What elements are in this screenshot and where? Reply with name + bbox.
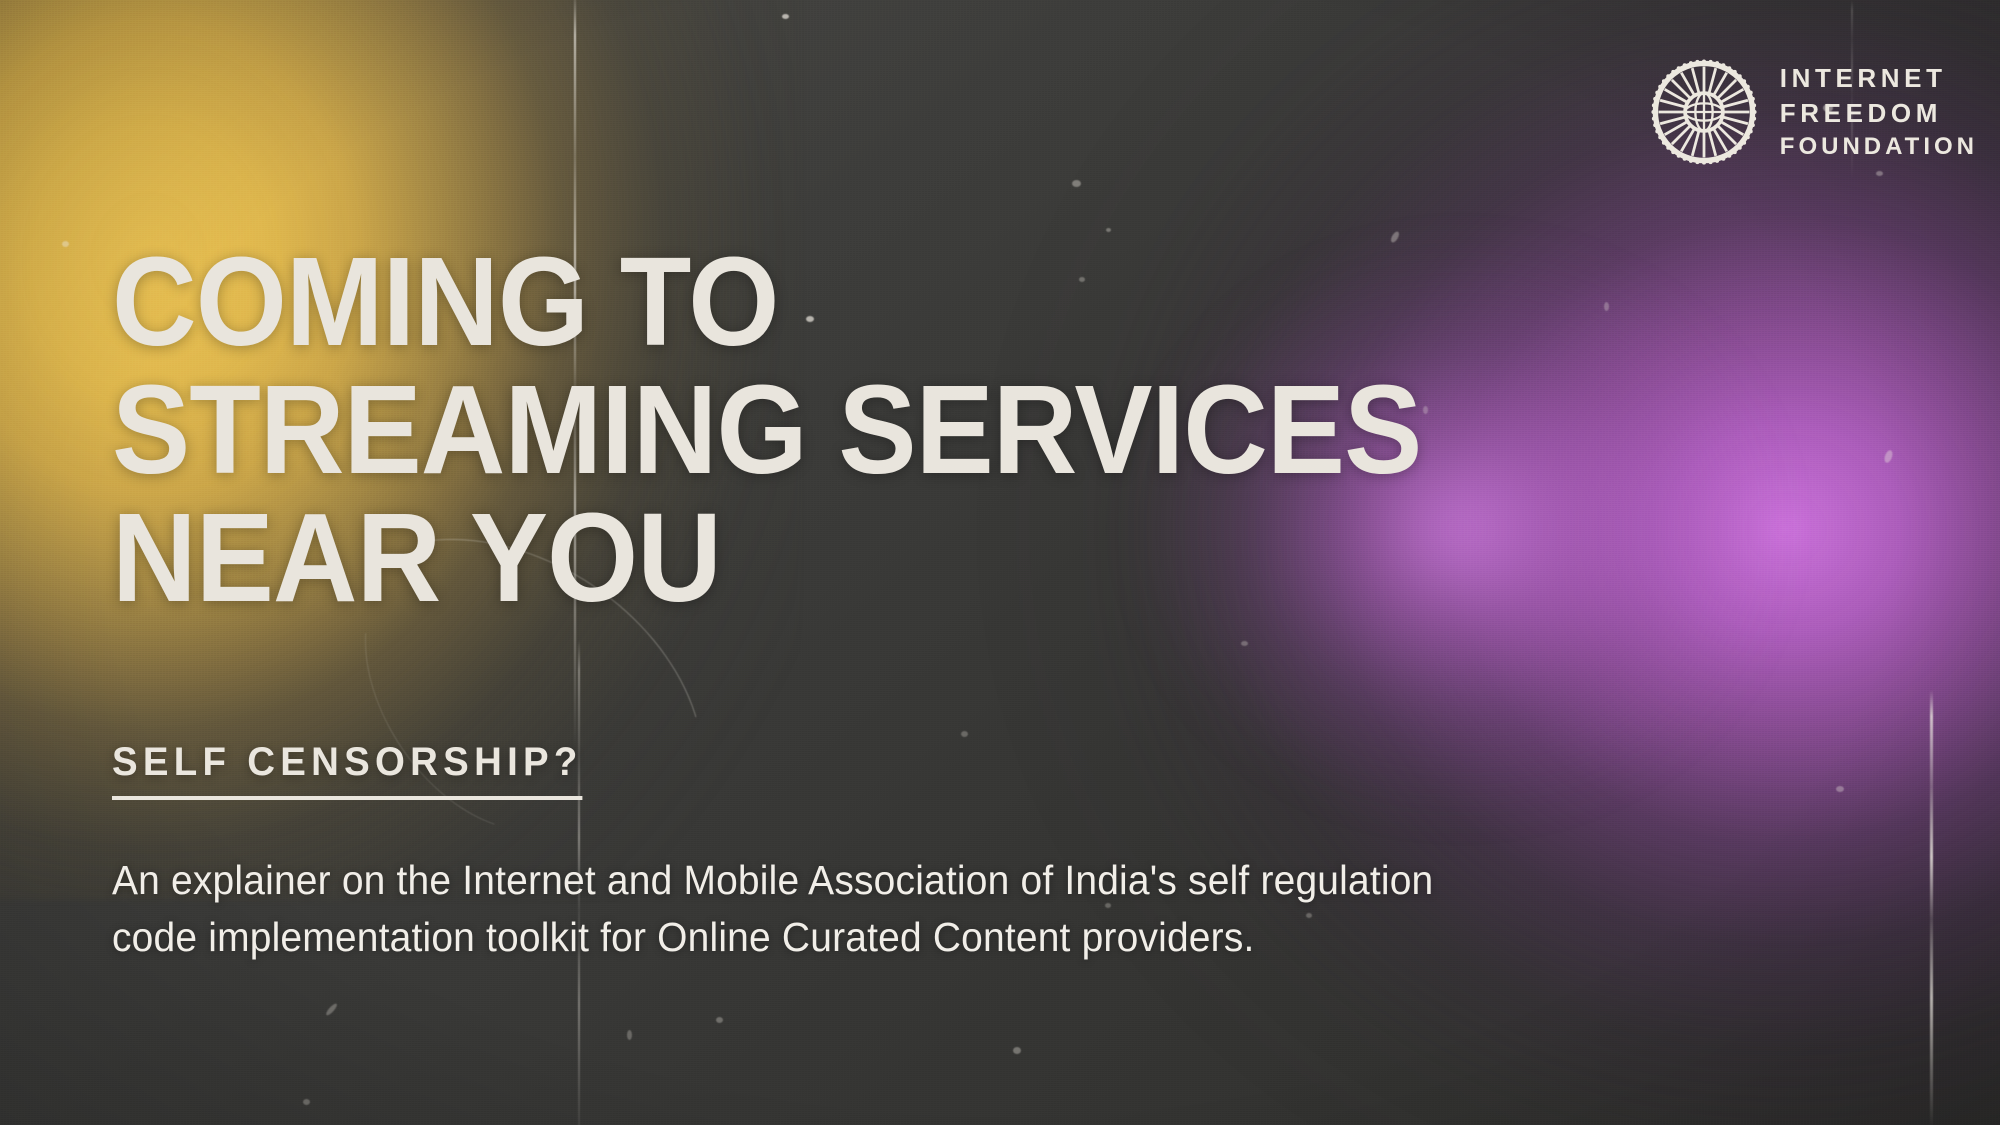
headline-line-3: NEAR YOU bbox=[112, 494, 1749, 622]
headline-line-1: COMING TO bbox=[112, 238, 1749, 366]
film-scratch-line bbox=[1930, 690, 1933, 1125]
poster-canvas: INTERNET FREEDOM FOUNDATION COMING TO ST… bbox=[0, 0, 2000, 1125]
description-paragraph: An explainer on the Internet and Mobile … bbox=[112, 852, 1442, 966]
headline-line-2: STREAMING SERVICES bbox=[112, 366, 1749, 494]
subheading: SELF CENSORSHIP? bbox=[112, 740, 583, 800]
page-title: COMING TO STREAMING SERVICES NEAR YOU bbox=[112, 238, 1749, 622]
description-text: An explainer on the Internet and Mobile … bbox=[112, 852, 1442, 966]
dust-speck bbox=[62, 241, 69, 247]
content-block: COMING TO STREAMING SERVICES NEAR YOU SE… bbox=[112, 0, 1912, 1125]
